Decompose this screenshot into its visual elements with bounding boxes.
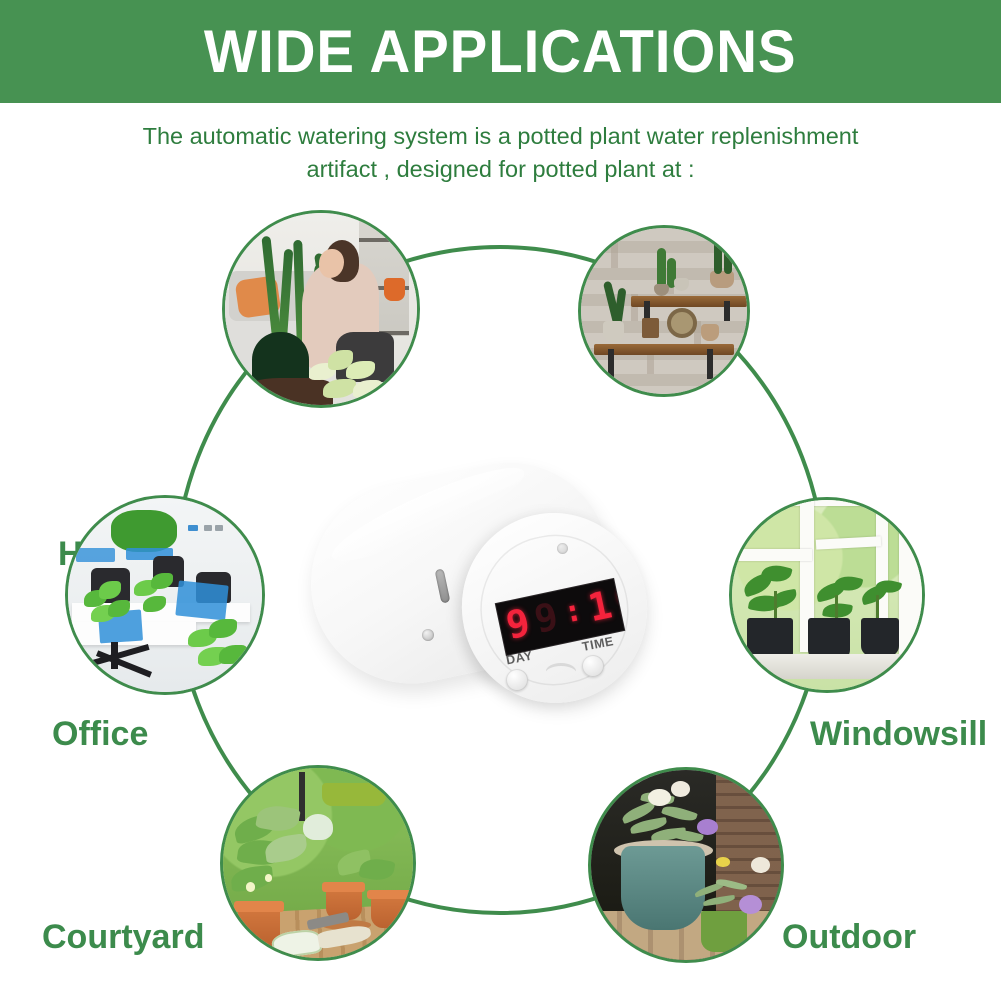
page-title: WIDE APPLICATIONS [204, 22, 797, 82]
node-photo-windowsill[interactable] [729, 497, 925, 693]
node-photo-office[interactable] [65, 495, 265, 695]
scene-courtyard [223, 768, 413, 958]
scene-wall [581, 228, 747, 394]
header-band: WIDE APPLICATIONS [0, 0, 1001, 103]
scene-office [68, 498, 262, 692]
node-label-courtyard: Courtyard [42, 918, 204, 957]
subtitle: The automatic watering system is a potte… [0, 120, 1001, 187]
scene-home [225, 213, 417, 405]
node-photo-outdoor[interactable] [588, 767, 784, 963]
day-button[interactable] [506, 669, 528, 691]
time-button[interactable] [582, 655, 604, 677]
display-digit-3: 1 [585, 585, 616, 627]
node-label-windowsill: Windowsill [810, 715, 987, 754]
subtitle-line-2: artifact , designed for potted plant at … [307, 156, 695, 182]
device-indicator-led [557, 543, 568, 554]
scene-outdoor [591, 770, 781, 960]
subtitle-line-1: The automatic watering system is a potte… [143, 123, 859, 149]
scene-windowsill [732, 500, 922, 690]
node-photo-wall[interactable] [578, 225, 750, 397]
device-side-port [422, 629, 434, 641]
display-colon: : [561, 595, 586, 628]
device-watering-timer[interactable]: 9 9 : 1 9 DAY TIME [310, 455, 675, 725]
device-panel-notch [546, 663, 576, 679]
display-digit-2: 9 [531, 597, 562, 639]
display-digit-1: 9 [503, 603, 534, 645]
node-photo-home[interactable] [222, 210, 420, 408]
node-photo-courtyard[interactable] [220, 765, 416, 961]
node-label-office: Office [52, 715, 148, 754]
node-label-outdoor: Outdoor [782, 918, 916, 957]
